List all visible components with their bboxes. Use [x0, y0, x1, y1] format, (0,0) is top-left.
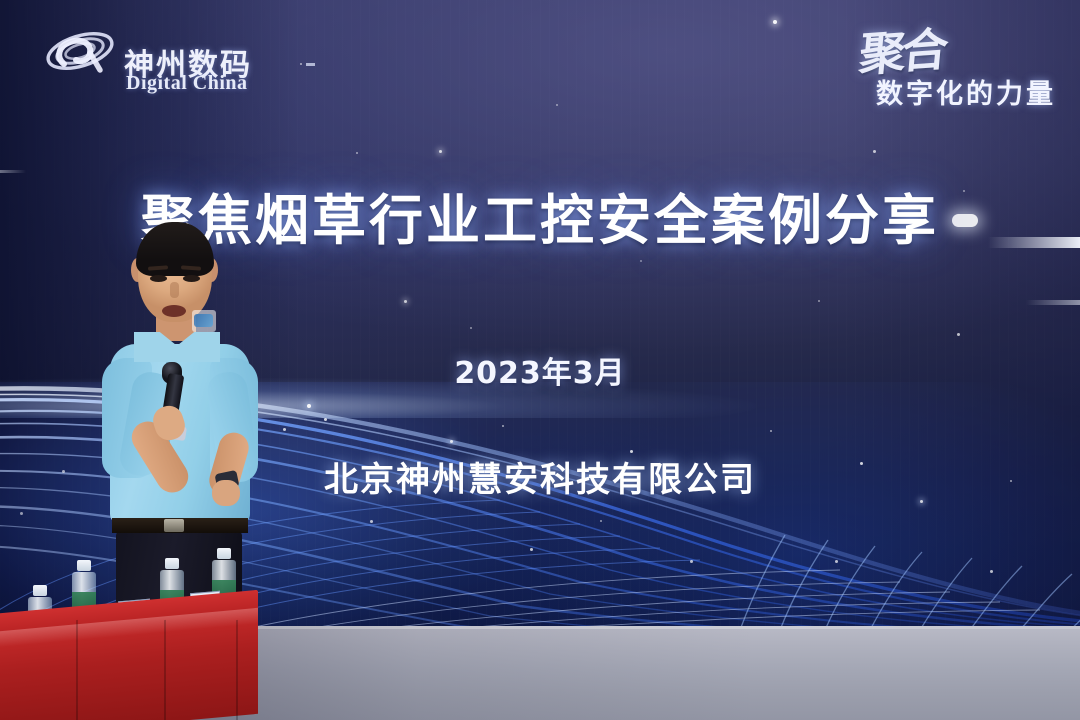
event-logo-tagline: 数字化的力量	[876, 72, 1056, 111]
presenter-belt-buckle	[164, 519, 184, 532]
presenter-right-eye	[183, 275, 200, 282]
table-cloth-fold	[76, 620, 78, 720]
table-cloth-fold	[236, 620, 238, 720]
conference-photo-scene: 神州数码 Digital China 聚合 数字化的力量 聚焦烟草行业工控安全案…	[0, 0, 1080, 720]
bottle-cap	[33, 585, 46, 596]
presenter-nose	[170, 282, 179, 298]
screen-light-streak-left	[0, 170, 26, 173]
bottle-cap	[165, 558, 178, 569]
table-cloth-fold	[164, 620, 166, 720]
digital-china-swirl-logo	[44, 20, 116, 82]
digital-china-logo: 神州数码 Digital China	[44, 18, 274, 92]
event-logo: 聚合 数字化的力量	[806, 16, 1056, 114]
presenter-mouth	[162, 305, 186, 317]
bottle-cap	[77, 560, 90, 571]
presenter-left-eye	[150, 275, 167, 282]
brand-name-en: Digital China	[126, 72, 248, 95]
red-draped-table	[0, 596, 268, 720]
screen-light-streak-lower	[1026, 300, 1080, 305]
shirt-logo-glyph	[194, 314, 213, 327]
logo-tick-mark	[306, 63, 315, 66]
bottle-cap	[217, 548, 230, 559]
presenter-right-hand	[212, 480, 240, 506]
